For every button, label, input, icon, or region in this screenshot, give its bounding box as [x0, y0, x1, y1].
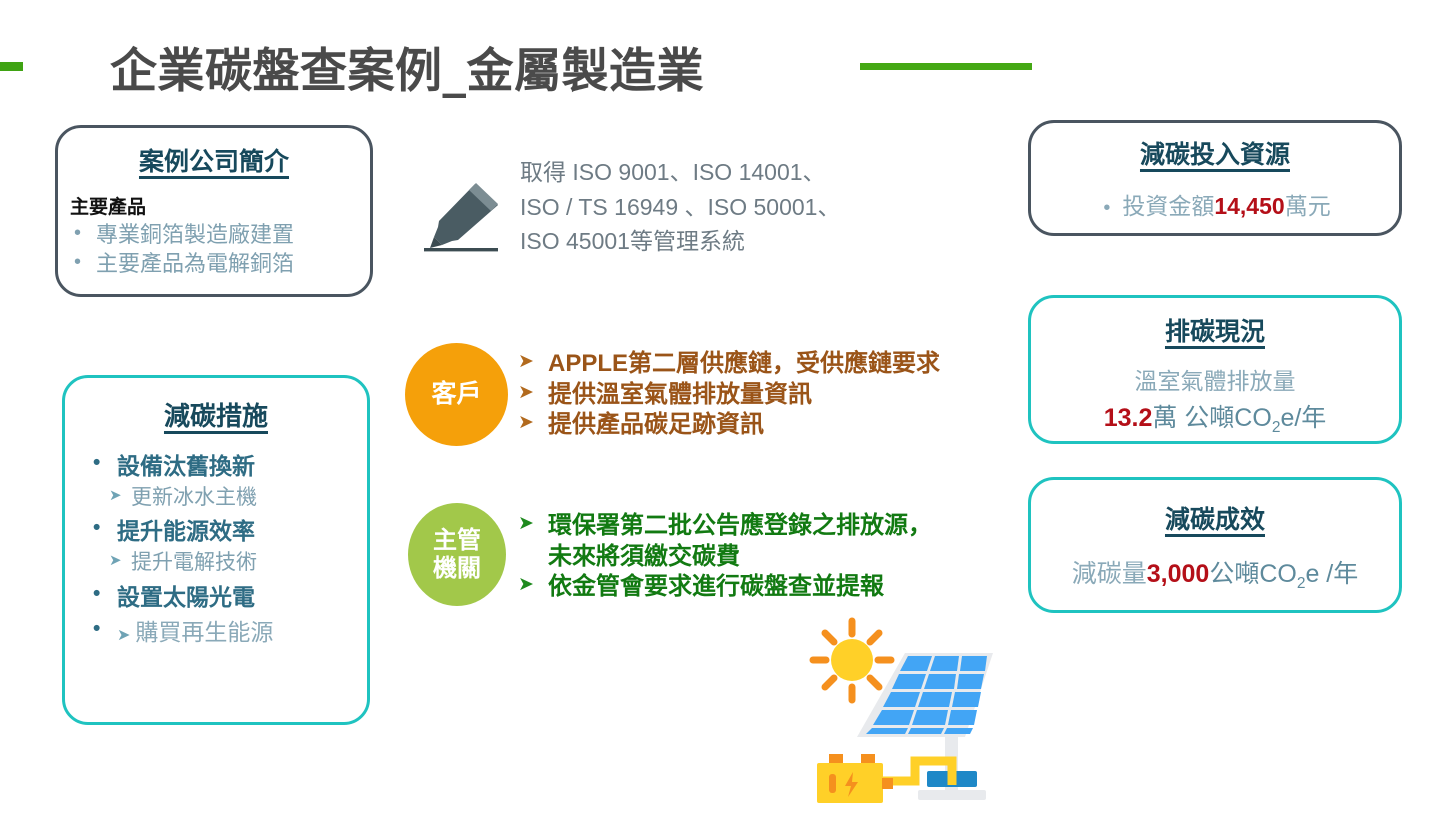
- list-item: ➤購買再生能源: [65, 617, 367, 648]
- effect-card: 減碳成效 減碳量3,000公噸CO2e /年: [1028, 477, 1402, 613]
- list-item: ➤依金管會要求進行碳盤查並提報: [512, 572, 932, 603]
- battery-mark: [829, 774, 836, 793]
- investment-card: 減碳投入資源 投資金額14,450萬元: [1028, 120, 1402, 236]
- emission-subtitle: 溫室氣體排放量: [1031, 362, 1399, 396]
- effect-label-prefix: 減碳量: [1072, 560, 1147, 588]
- list-item: 提升能源效率: [65, 516, 367, 547]
- title-accent-left: [0, 62, 23, 71]
- battery-terminal: [829, 754, 843, 764]
- iso-certifications: 取得 ISO 9001、ISO 14001、 ISO / TS 16949 、I…: [520, 155, 940, 259]
- company-intro-title: 案例公司簡介: [58, 142, 370, 178]
- investment-title: 減碳投入資源: [1031, 135, 1399, 171]
- list-item-label: 未來將須繳交碳費: [548, 543, 740, 570]
- effect-unit-prefix: 公噸CO: [1209, 560, 1297, 588]
- arrow-icon: ➤: [117, 627, 130, 644]
- list-item-label: 提供產品碳足跡資訊: [548, 411, 764, 438]
- battery-connector: [882, 778, 893, 789]
- iso-line: ISO 45001等管理系統: [520, 224, 940, 259]
- highlighter-marker-icon: [412, 178, 508, 256]
- list-item-label: 環保署第二批公告應登錄之排放源，: [548, 512, 932, 539]
- emission-unit-suffix: e/年: [1280, 404, 1326, 432]
- title-accent-right: [860, 63, 1032, 70]
- iso-line: 取得 ISO 9001、ISO 14001、: [520, 155, 940, 190]
- investment-value-line: 投資金額14,450萬元: [1031, 187, 1399, 221]
- measures-card: 減碳措施 設備汰舊換新 更新冰水主機 提升能源效率 提升電解技術 設置太陽光電 …: [62, 375, 370, 725]
- list-item: 提升電解技術: [65, 549, 367, 577]
- measures-list: 設備汰舊換新 更新冰水主機 提升能源效率 提升電解技術 設置太陽光電 ➤購買再生…: [65, 451, 367, 648]
- solar-panel-battery-illustration: [805, 615, 1025, 810]
- company-intro-card: 案例公司簡介 主要產品 專業銅箔製造廠建置 主要產品為電解銅箔: [55, 125, 373, 297]
- slide-canvas: 企業碳盤查案例_金屬製造業 案例公司簡介 主要產品 專業銅箔製造廠建置 主要產品…: [0, 0, 1455, 814]
- arrow-icon: ➤: [518, 411, 534, 435]
- arrow-icon: ➤: [518, 512, 534, 536]
- list-item: 設置太陽光電: [65, 582, 367, 613]
- list-item: 設備汰舊換新: [65, 451, 367, 482]
- customer-requirements-list: ➤APPLE第二層供應鏈，受供應鏈要求 ➤提供溫室氣體排放量資訊 ➤提供產品碳足…: [512, 349, 940, 441]
- investment-amount: 14,450: [1214, 193, 1284, 219]
- page-title: 企業碳盤查案例_金屬製造業: [110, 32, 704, 101]
- emission-title: 排碳現況: [1031, 312, 1399, 348]
- list-item-label: 提供溫室氣體排放量資訊: [548, 381, 812, 408]
- emission-unit-prefix: 萬 公噸CO: [1152, 404, 1271, 432]
- stakeholder-circle-customer: 客戶: [405, 343, 508, 446]
- effect-value: 3,000: [1147, 560, 1210, 588]
- iso-line: ISO / TS 16949 、ISO 50001、: [520, 190, 940, 225]
- investment-label-suffix: 萬元: [1285, 193, 1331, 219]
- measures-title: 減碳措施: [65, 396, 367, 433]
- battery-terminal: [861, 754, 875, 764]
- investment-label-prefix: 投資金額: [1122, 193, 1214, 219]
- effect-unit-suffix: e /年: [1305, 560, 1358, 588]
- stakeholder-label-line1: 主管: [433, 527, 481, 554]
- emission-value-line: 13.2萬 公噸CO2e/年: [1031, 398, 1399, 437]
- list-item: ➤提供產品碳足跡資訊: [512, 410, 940, 441]
- list-item: 未來將須繳交碳費: [512, 542, 932, 573]
- list-item-label: 購買再生能源: [135, 619, 273, 645]
- company-intro-list: 專業銅箔製造廠建置 主要產品為電解銅箔: [58, 221, 370, 278]
- list-item: ➤APPLE第二層供應鏈，受供應鏈要求: [512, 349, 940, 380]
- solar-panel: [857, 653, 993, 737]
- list-item-label: APPLE第二層供應鏈，受供應鏈要求: [548, 350, 940, 377]
- emission-card: 排碳現況 溫室氣體排放量 13.2萬 公噸CO2e/年: [1028, 295, 1402, 444]
- list-item-label: 依金管會要求進行碳盤查並提報: [548, 573, 884, 600]
- stakeholder-label: 客戶: [431, 380, 481, 409]
- arrow-icon: ➤: [518, 573, 534, 597]
- effect-title: 減碳成效: [1031, 500, 1399, 536]
- stakeholder-label-line2: 機關: [433, 555, 481, 582]
- stakeholder-label: 主管 機關: [433, 527, 481, 582]
- authority-requirements-list: ➤環保署第二批公告應登錄之排放源， 未來將須繳交碳費 ➤依金管會要求進行碳盤查並…: [512, 511, 932, 603]
- panel-base: [918, 790, 986, 800]
- list-item: ➤提供溫室氣體排放量資訊: [512, 380, 940, 411]
- list-item: 更新冰水主機: [65, 484, 367, 512]
- emission-value: 13.2: [1104, 404, 1153, 432]
- arrow-icon: ➤: [518, 350, 534, 374]
- list-item: ➤環保署第二批公告應登錄之排放源，: [512, 511, 932, 542]
- list-item: 專業銅箔製造廠建置: [58, 221, 370, 250]
- sun-icon: [831, 639, 873, 681]
- effect-value-line: 減碳量3,000公噸CO2e /年: [1031, 554, 1399, 593]
- company-intro-subtitle: 主要產品: [70, 192, 370, 219]
- arrow-icon: ➤: [518, 381, 534, 405]
- list-item: 主要產品為電解銅箔: [58, 250, 370, 279]
- stakeholder-circle-authority: 主管 機關: [408, 503, 506, 606]
